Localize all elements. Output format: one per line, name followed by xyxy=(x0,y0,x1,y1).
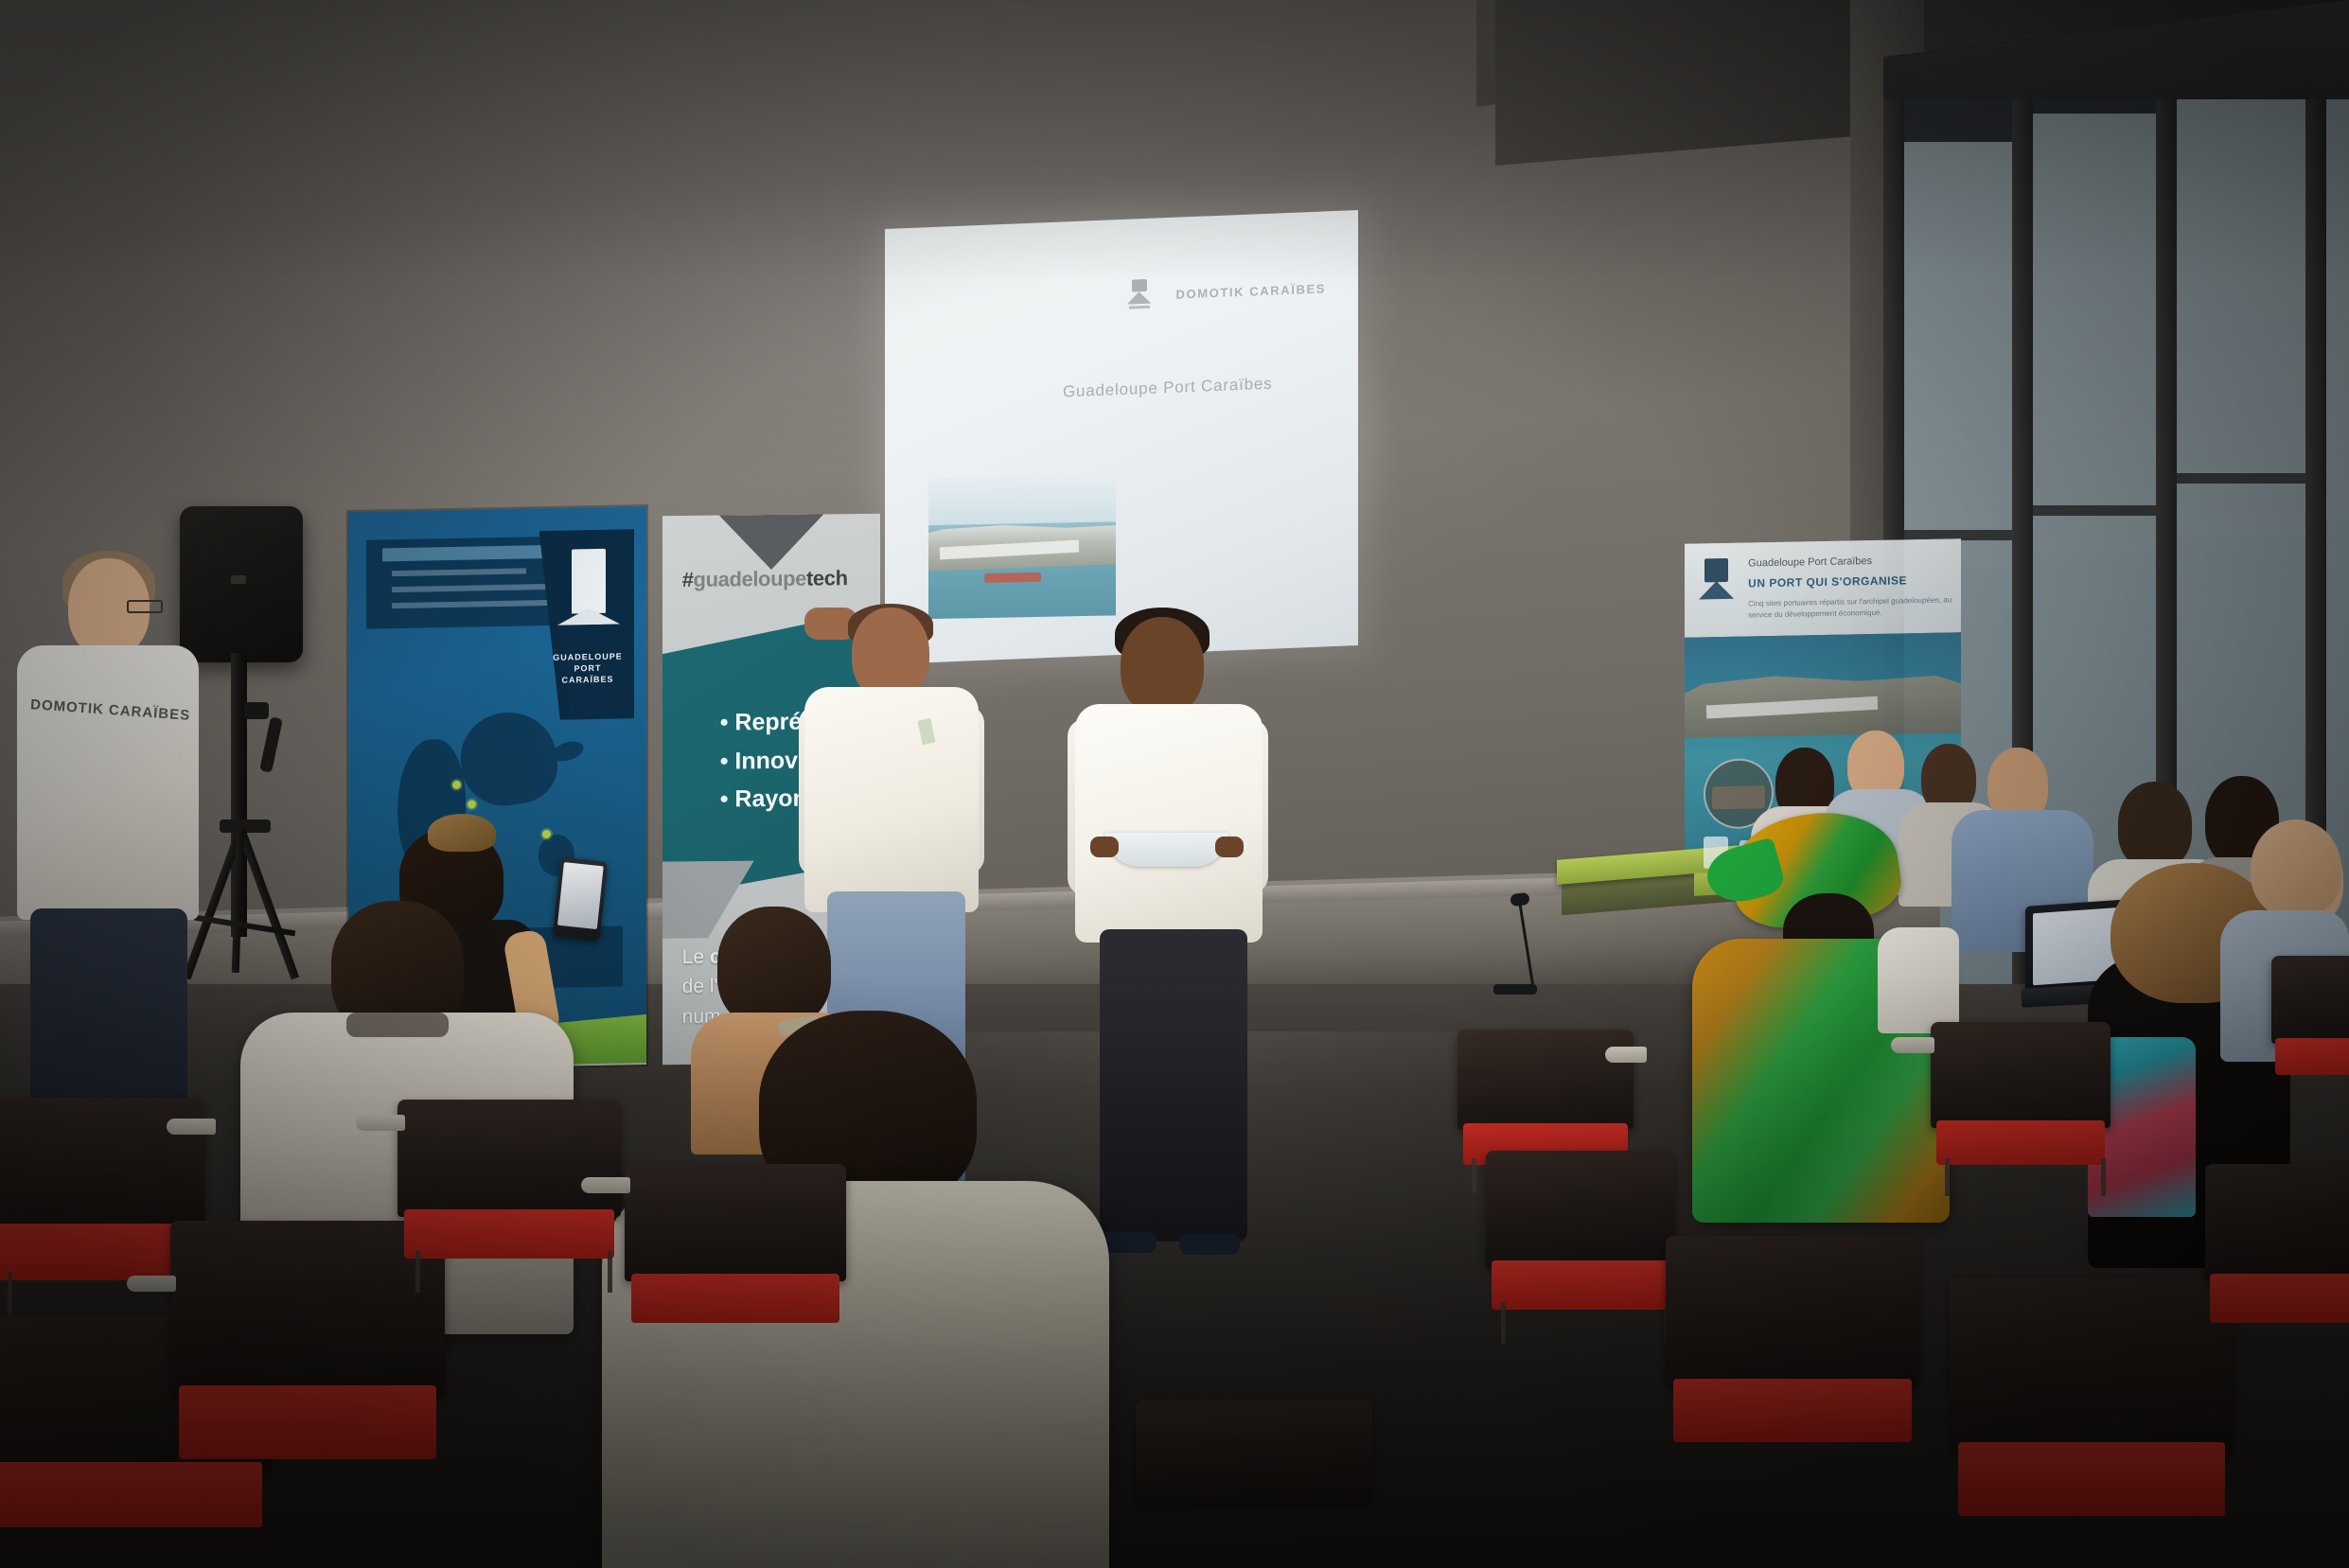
head xyxy=(1121,617,1204,715)
white-shirt xyxy=(1075,704,1263,943)
chair[interactable] xyxy=(1931,1022,2111,1192)
chair[interactable] xyxy=(2271,956,2349,1098)
glass-award-plaque xyxy=(1105,833,1228,867)
slide-logo-group: DOMOTIK CARAÏBES xyxy=(1127,272,1327,311)
neighbour-shoulder xyxy=(1878,927,1959,1033)
hand-right xyxy=(1215,837,1244,857)
shirt-collar xyxy=(346,1013,449,1037)
banner-right-header: Guadeloupe Port Caraïbes UN PORT QUI S'O… xyxy=(1685,538,1961,638)
hashtag-dim-part: guadeloupe xyxy=(694,567,806,591)
domotik-caraibes-logo-text: DOMOTIK CARAÏBES xyxy=(1176,281,1327,301)
chair-writing-tablet xyxy=(167,1119,216,1135)
projection-screen: DOMOTIK CARAÏBES Guadeloupe Port Caraïbe… xyxy=(885,210,1358,664)
chair-writing-tablet xyxy=(127,1276,176,1292)
shoe-right xyxy=(1179,1234,1240,1255)
port-caraibes-crest-icon xyxy=(572,548,606,613)
chair-writing-tablet xyxy=(1605,1047,1647,1063)
white-shirt xyxy=(17,645,199,920)
window-transom xyxy=(2033,505,2156,516)
banner-right-subtitle: UN PORT QUI S'ORGANISE xyxy=(1748,573,1907,590)
conference-room-photo: DOMOTIK CARAÏBES Guadeloupe Port Caraïbe… xyxy=(0,0,2349,1568)
speaker-stand-knob[interactable] xyxy=(244,702,269,719)
banner-right-body: Cinq sites portuaires répartis sur l'arc… xyxy=(1748,595,1961,622)
chair[interactable] xyxy=(1136,1401,1372,1568)
banner-tech-notch xyxy=(719,514,823,570)
hand-left xyxy=(1090,837,1119,857)
microphone-base xyxy=(1493,984,1537,995)
chair[interactable] xyxy=(1950,1277,2234,1561)
chair[interactable] xyxy=(625,1164,846,1353)
chair[interactable] xyxy=(1666,1236,1919,1482)
port-caraibes-logo-icon-small xyxy=(1699,558,1735,613)
hair-top-knot xyxy=(428,814,496,852)
chair[interactable] xyxy=(397,1100,621,1289)
chair-writing-tablet xyxy=(1891,1037,1934,1053)
hashtag-bold-part: tech xyxy=(806,566,848,590)
chair[interactable] xyxy=(1486,1151,1675,1340)
chair[interactable] xyxy=(2205,1164,2349,1353)
hashtag-symbol: # xyxy=(682,568,694,591)
window-transom xyxy=(2177,473,2305,484)
banner-right-title: Guadeloupe Port Caraïbes xyxy=(1748,555,1872,570)
chair-writing-tablet xyxy=(581,1177,630,1193)
eyeglasses-icon xyxy=(127,600,163,613)
chair-writing-tablet xyxy=(356,1115,405,1131)
head xyxy=(2251,819,2341,918)
slide-title: Guadeloupe Port Caraïbes xyxy=(1063,375,1272,402)
white-shirt xyxy=(804,687,979,912)
slide-port-photo xyxy=(928,475,1116,619)
curly-hair xyxy=(717,907,831,1028)
port-caraibes-logo-icon xyxy=(1127,279,1152,312)
banner-tech-hashtag: #guadeloupetech xyxy=(682,566,848,592)
